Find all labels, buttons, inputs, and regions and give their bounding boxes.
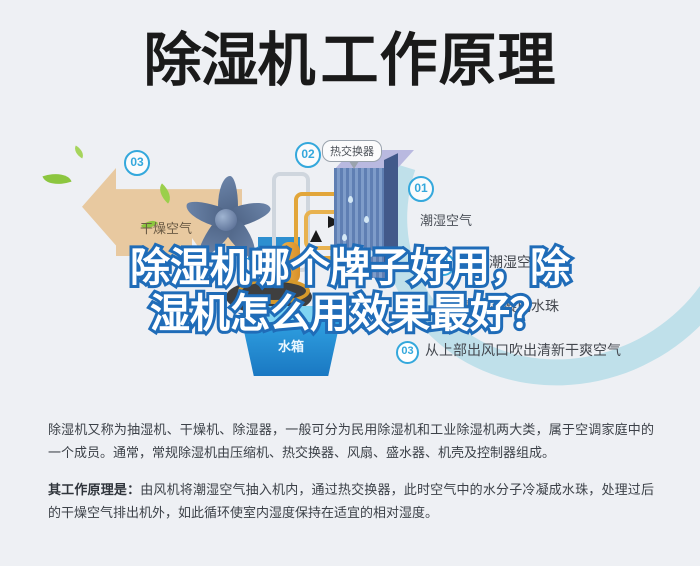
water-droplet-icon	[364, 216, 369, 223]
callout-heat-exchanger: 热交换器	[322, 140, 382, 162]
badge-dry-air: 03	[124, 150, 150, 176]
page-title-part-b: 工作原理	[321, 28, 557, 93]
heat-exchanger-block	[334, 150, 396, 278]
label-humid-air: 潮湿空气	[420, 210, 472, 229]
water-tank-label: 水箱	[232, 336, 350, 355]
step-line-03: 03从上部出风口吹出清新干爽空气	[396, 340, 621, 364]
leaf-icon	[72, 146, 86, 159]
step-text: 吸入潮湿空气	[461, 254, 545, 270]
step-number: 03	[396, 341, 419, 364]
water-tank: 水箱	[232, 306, 350, 378]
paragraph-principle-lead: 其工作原理是：	[48, 482, 140, 497]
leaf-icon	[42, 168, 71, 189]
article-body: 除湿机又称为抽湿机、干燥机、除湿器，一般可分为民用除湿机和工业除湿机两大类，属于…	[48, 418, 654, 524]
paragraph-principle: 其工作原理是：由风机将潮湿空气抽入机内，通过热交换器，此时空气中的水分子冷凝成水…	[48, 478, 654, 524]
page-title: 除湿机工作原理	[0, 28, 700, 94]
page-root: 除湿机工作原理	[0, 0, 700, 566]
unit-base-ring	[238, 278, 310, 304]
working-principle-illustration: 水箱 03 02 01 热交换器 干燥空气 潮湿空气	[0, 110, 700, 410]
step-number: 01	[432, 253, 455, 276]
fan-hub	[215, 209, 237, 231]
step-number: 02	[404, 297, 427, 320]
flow-arrow-up-icon	[310, 230, 322, 242]
label-dry-air: 干燥空气	[140, 218, 192, 237]
page-title-part-a: 除湿机	[143, 28, 314, 93]
badge-humid-air: 01	[408, 176, 434, 202]
heat-exchanger-side	[384, 153, 398, 272]
paragraph-definition: 除湿机又称为抽湿机、干燥机、除湿器，一般可分为民用除湿机和工业除湿机两大类，属于…	[48, 418, 654, 464]
step-line-01: 01吸入潮湿空气	[432, 252, 545, 276]
water-droplet-icon	[348, 196, 353, 203]
water-droplet-icon	[342, 234, 347, 241]
badge-heat-exchanger: 02	[295, 142, 321, 168]
heat-exchanger-fins	[334, 168, 386, 278]
water-droplet-icon	[368, 250, 373, 257]
step-text: 水蒸气遇冷凝成水珠	[433, 298, 559, 314]
fan-icon	[178, 172, 274, 268]
step-line-02: 02水蒸气遇冷凝成水珠	[404, 296, 559, 320]
step-text: 从上部出风口吹出清新干爽空气	[425, 342, 621, 358]
